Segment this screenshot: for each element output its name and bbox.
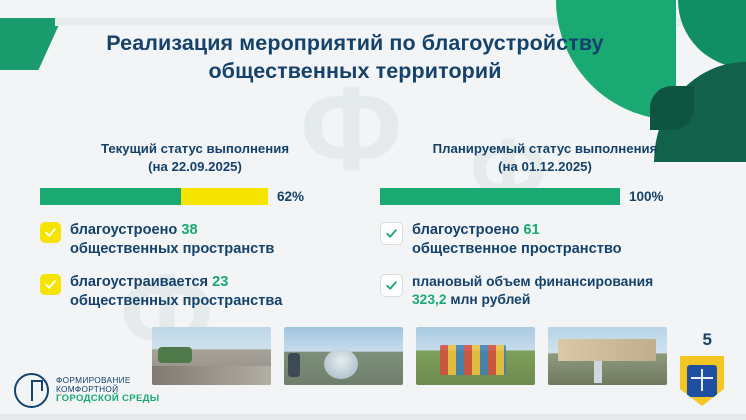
list-item-text-second: млн рублей — [447, 292, 531, 307]
list-item: благоустроено 38 общественных пространст… — [40, 221, 350, 259]
current-progress-bar — [40, 188, 268, 205]
corner-blob-green-small — [678, 0, 746, 68]
current-status-heading-line-1: Текущий статус выполнения — [40, 140, 350, 158]
list-item-text-main: благоустроено — [70, 222, 181, 238]
list-item-text: благоустроено 61 общественное пространст… — [412, 221, 622, 259]
page-number: 5 — [703, 330, 712, 350]
current-status-bullets: благоустроено 38 общественных пространст… — [40, 221, 350, 311]
list-item-number: 23 — [212, 274, 228, 290]
check-icon — [40, 222, 61, 243]
footer-divider — [0, 414, 746, 420]
list-item-number: 38 — [181, 222, 197, 238]
check-icon — [40, 274, 61, 295]
planned-status-column: Планируемый статус выполнения (на 01.12.… — [380, 140, 710, 323]
corner-blob-dark-small — [650, 86, 694, 130]
logo-mark-icon — [14, 373, 49, 408]
current-progress-remainder — [181, 188, 268, 205]
current-status-column: Текущий статус выполнения (на 22.09.2025… — [40, 140, 350, 325]
planned-status-heading-line-1: Планируемый статус выполнения — [380, 140, 710, 158]
list-item-text-second: общественных пространства — [70, 293, 282, 309]
logo-text-line-3: ГОРОДСКОЙ СРЕДЫ — [56, 394, 159, 405]
list-item-number: 323,2 — [412, 292, 447, 307]
current-progress-fill — [40, 188, 181, 205]
planned-progress-percent: 100% — [629, 189, 664, 204]
emblem-shield-icon — [687, 365, 717, 397]
corner-accent-shape — [0, 18, 62, 70]
list-item-text-main: благоустроено — [412, 222, 523, 238]
logo-text: ФОРМИРОВАНИЕ КОМФОРТНОЙ ГОРОДСКОЙ СРЕДЫ — [56, 376, 159, 405]
page-title-line-2: общественных территорий — [55, 58, 655, 86]
current-status-heading: Текущий статус выполнения (на 22.09.2025… — [40, 140, 350, 176]
planned-status-heading-line-2: (на 01.12.2025) — [380, 158, 710, 176]
list-item: благоустраивается 23 общественных простр… — [40, 273, 350, 311]
current-status-heading-line-2: (на 22.09.2025) — [40, 158, 350, 176]
page-title-line-1: Реализация мероприятий по благоустройств… — [55, 30, 655, 58]
current-progress-percent: 62% — [277, 189, 304, 204]
check-icon — [380, 274, 403, 297]
list-item-text-main: плановый объем финансирования — [412, 274, 653, 289]
photo-playground — [416, 327, 535, 385]
program-logo: ФОРМИРОВАНИЕ КОМФОРТНОЙ ГОРОДСКОЙ СРЕДЫ — [14, 373, 159, 408]
planned-status-bullets: благоустроено 61 общественное пространст… — [380, 221, 710, 309]
planned-progress-fill — [380, 188, 620, 205]
photo-strip — [152, 327, 667, 385]
check-icon — [380, 222, 403, 245]
planned-progress-row: 100% — [380, 188, 710, 205]
list-item-number: 61 — [523, 222, 539, 238]
photo-fountain — [284, 327, 403, 385]
list-item-text: плановый объем финансирования 323,2 млн … — [412, 273, 653, 309]
current-progress-row: 62% — [40, 188, 350, 205]
list-item-text-second: общественное пространство — [412, 241, 622, 257]
list-item-text: благоустраивается 23 общественных простр… — [70, 273, 282, 311]
list-item-text: благоустроено 38 общественных пространст… — [70, 221, 274, 259]
page-title: Реализация мероприятий по благоустройств… — [55, 30, 655, 85]
list-item: плановый объем финансирования 323,2 млн … — [380, 273, 710, 309]
photo-city-building — [548, 327, 667, 385]
list-item-text-main: благоустраивается — [70, 274, 212, 290]
list-item: благоустроено 61 общественное пространст… — [380, 221, 710, 259]
planned-status-heading: Планируемый статус выполнения (на 01.12.… — [380, 140, 710, 176]
list-item-text-second: общественных пространств — [70, 241, 274, 257]
photo-square-paving — [152, 327, 271, 385]
planned-progress-bar — [380, 188, 620, 205]
